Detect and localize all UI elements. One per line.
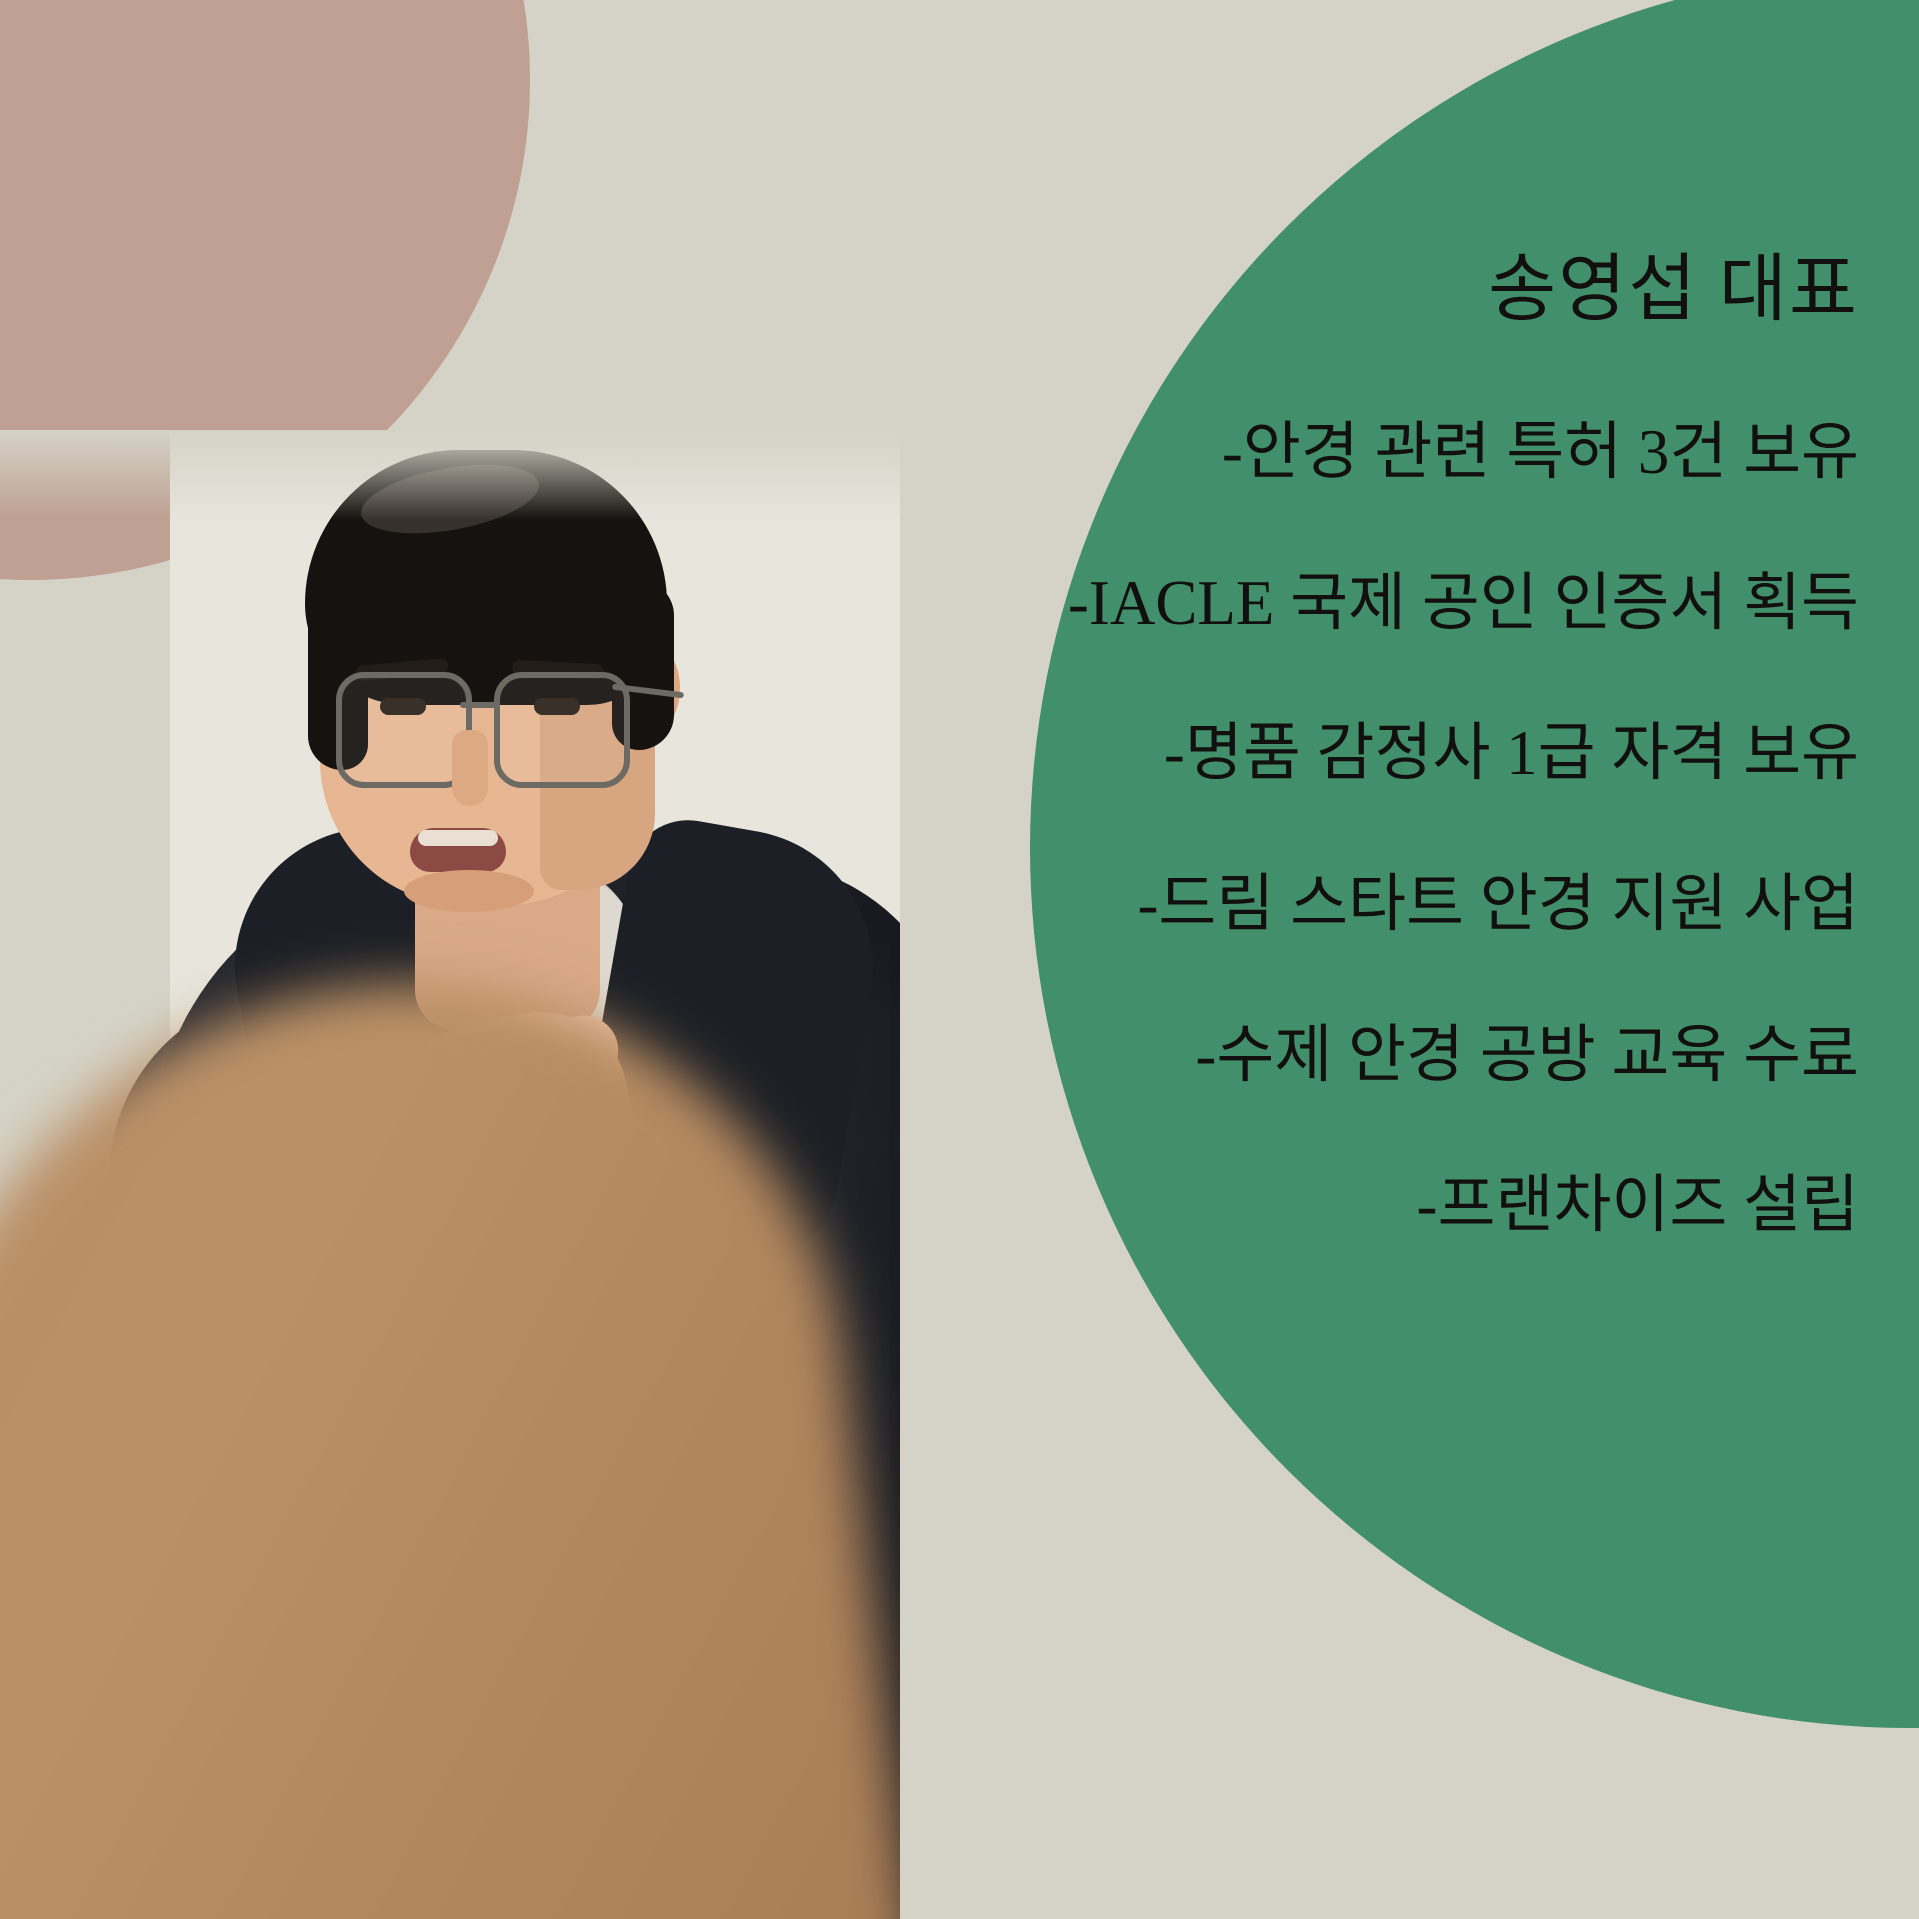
list-item: -수제 안경 공방 교육 수료 [899, 1020, 1859, 1091]
list-item: -안경 관련 특허 3건 보유 [899, 417, 1859, 488]
list-item: -프랜차이즈 설립 [899, 1170, 1859, 1241]
photo-top-fade [0, 430, 965, 520]
list-item: -IACLE 국제 공인 인증서 획득 [899, 568, 1859, 639]
profile-card: Stussy HONOLULU 송영섭 대표 -안경 관련 특허 3건 보유 -… [0, 0, 1919, 1919]
list-item: -드림 스타트 안경 지원 사업 [899, 869, 1859, 940]
list-item: -명품 감정사 1급 자격 보유 [899, 718, 1859, 789]
subject-photo: Stussy HONOLULU [0, 430, 965, 1919]
nose [452, 730, 488, 806]
eyeglasses-lens-right [494, 672, 630, 788]
eyeglasses-bridge [460, 702, 500, 708]
page-title: 송영섭 대표 [899, 250, 1859, 331]
chin-shadow [404, 870, 534, 912]
profile-text-panel: 송영섭 대표 -안경 관련 특허 3건 보유 -IACLE 국제 공인 인증서 … [899, 250, 1859, 1241]
credential-list: -안경 관련 특허 3건 보유 -IACLE 국제 공인 인증서 획득 -명품 … [899, 417, 1859, 1240]
teeth [418, 830, 498, 846]
